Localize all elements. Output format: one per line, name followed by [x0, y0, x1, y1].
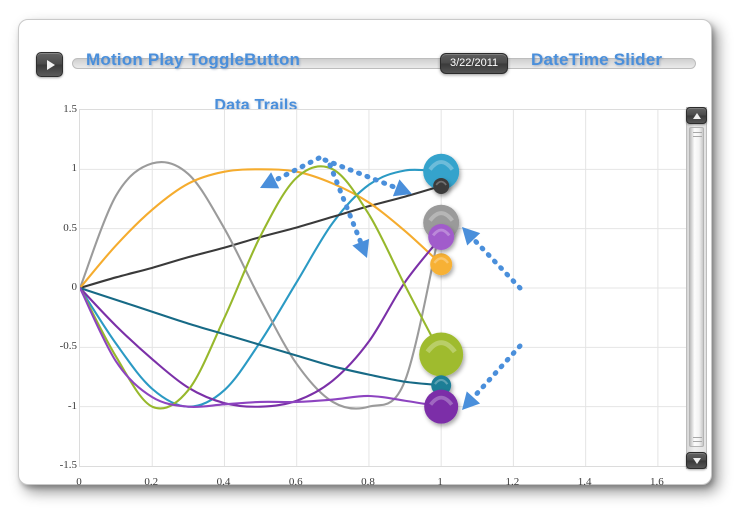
- chart-vertical-scrollbar[interactable]: [686, 107, 707, 469]
- y-tick-label: 0.5: [63, 223, 77, 234]
- x-tick-label: 1.2: [506, 477, 520, 488]
- chevron-down-icon: [693, 458, 701, 464]
- y-axis-labels: 1.510.50-0.5-1-1.5: [43, 93, 79, 493]
- scatter-spline-series-group: [80, 162, 441, 409]
- y-tick-label: -1.5: [60, 460, 77, 471]
- scrollbar-up-button[interactable]: [686, 107, 707, 124]
- x-axis-labels: 00.20.40.60.811.21.41.6: [79, 471, 695, 493]
- application-window: 3/22/2011 Motion Play ToggleButton DateT…: [0, 0, 749, 524]
- plot-area: [79, 109, 695, 467]
- x-tick-label: 1: [437, 477, 443, 488]
- motion-play-toggle-button[interactable]: [36, 52, 63, 77]
- bubble-data-point[interactable]: [424, 390, 458, 424]
- annotation-play-toggle: Motion Play ToggleButton: [86, 50, 300, 70]
- bubble-data-point[interactable]: [430, 253, 452, 275]
- x-tick-label: 0.8: [361, 477, 375, 488]
- x-tick-label: 0.2: [144, 477, 158, 488]
- y-tick-label: 1: [72, 163, 78, 174]
- spline-trail: [80, 288, 441, 385]
- x-tick-label: 1.6: [650, 477, 664, 488]
- chart-panel-frame: 3/22/2011 Motion Play ToggleButton DateT…: [18, 19, 712, 485]
- callout-arrow: [462, 227, 520, 288]
- scrollbar-thumb[interactable]: [689, 127, 704, 447]
- y-tick-label: -1: [68, 401, 77, 412]
- x-tick-label: 0: [76, 477, 82, 488]
- y-tick-label: -0.5: [60, 341, 77, 352]
- chart-canvas: [80, 110, 694, 466]
- y-tick-label: 0: [72, 282, 78, 293]
- bubble-data-point[interactable]: [428, 224, 454, 250]
- scrollbar-down-button[interactable]: [686, 452, 707, 469]
- scrollbar-grip-top: [693, 132, 702, 137]
- spline-trail: [80, 166, 441, 408]
- callout-arrow: [260, 158, 319, 188]
- xam-data-chart: 1.510.50-0.5-1-1.5 00.20.40.60.811.21.41…: [43, 93, 695, 493]
- y-tick-label: 1.5: [63, 104, 77, 115]
- annotation-datetime-slider: DateTime Slider: [531, 50, 662, 70]
- play-triangle-icon: [47, 60, 55, 70]
- callout-arrow: [462, 346, 520, 410]
- scrollbar-grip-bottom: [693, 437, 702, 442]
- x-tick-label: 0.4: [217, 477, 231, 488]
- x-tick-label: 0.6: [289, 477, 303, 488]
- spline-trail: [80, 237, 441, 407]
- bubble-data-point[interactable]: [419, 332, 463, 376]
- spline-trail: [80, 162, 441, 409]
- annotation-arrows: [260, 158, 520, 410]
- chevron-up-icon: [693, 113, 701, 119]
- x-tick-label: 1.4: [578, 477, 592, 488]
- datetime-slider-thumb[interactable]: 3/22/2011: [440, 53, 508, 74]
- bubble-data-point[interactable]: [433, 178, 449, 194]
